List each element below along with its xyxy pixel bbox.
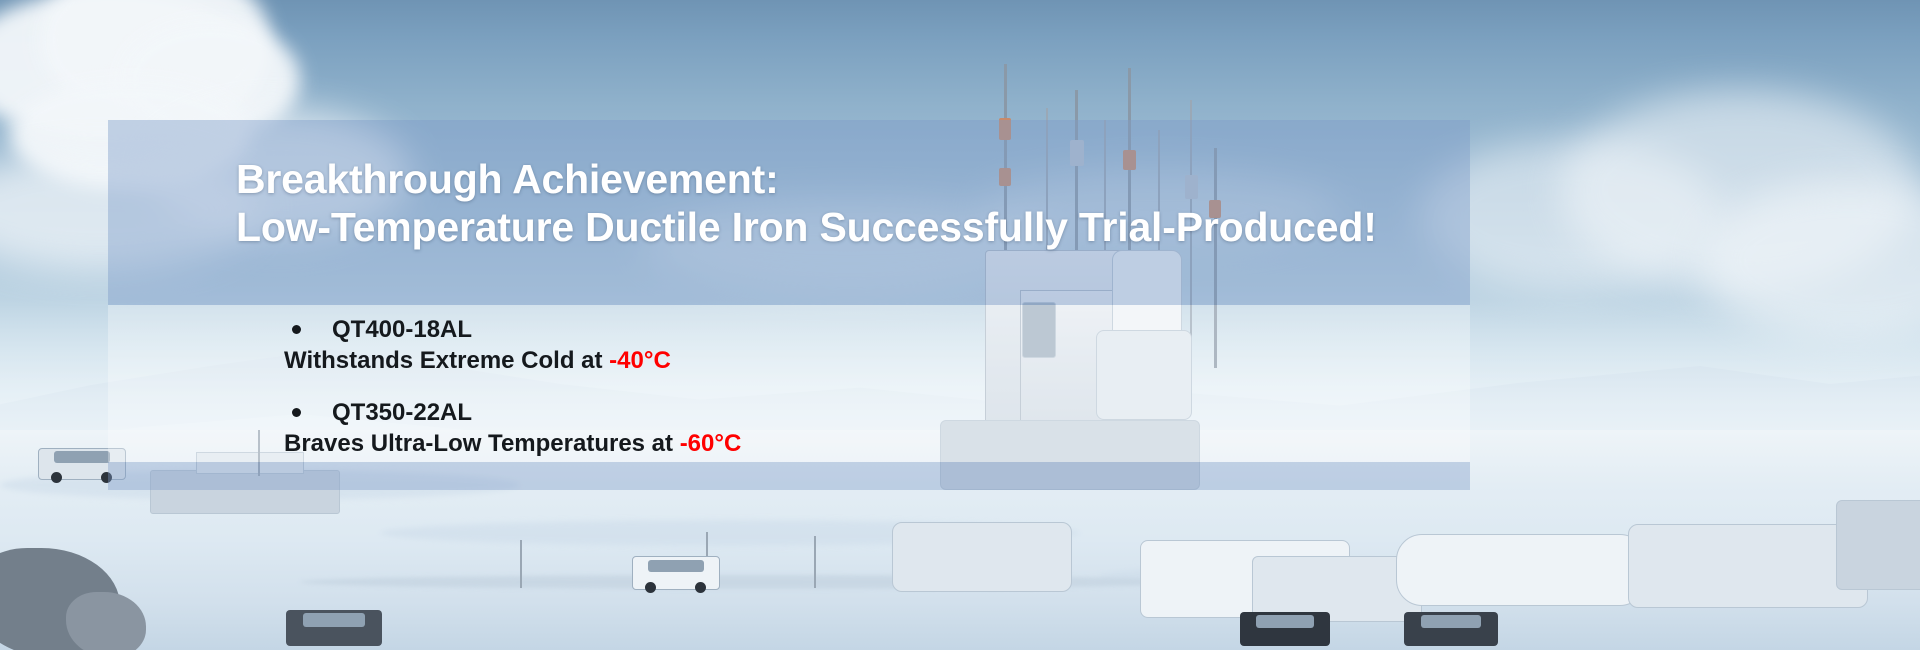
list-item-description: Withstands Extreme Cold at -40°C <box>284 346 1284 375</box>
facility-building <box>892 522 1072 592</box>
vehicle-window <box>303 613 364 627</box>
bullet-dot-icon <box>292 408 301 417</box>
description-text: Braves Ultra-Low Temperatures at <box>284 430 680 457</box>
list-item: QT350-22AL Braves Ultra-Low Temperatures… <box>284 398 1284 459</box>
description-text: Withstands Extreme Cold at <box>284 347 609 374</box>
vehicle-window <box>1256 615 1314 629</box>
facility-building <box>1628 524 1868 608</box>
utility-pole <box>814 536 816 588</box>
vehicle-window <box>54 451 109 463</box>
vehicle-window <box>648 560 703 573</box>
facility-building <box>1836 500 1920 590</box>
overlay-content: Breakthrough Achievement: Low-Temperatur… <box>108 120 1470 490</box>
bullet-dot-icon <box>292 325 301 334</box>
page-title: Breakthrough Achievement: Low-Temperatur… <box>236 155 1466 252</box>
vehicle <box>1404 612 1498 646</box>
material-grade-code: QT350-22AL <box>332 398 472 427</box>
hero-text-overlay: Breakthrough Achievement: Low-Temperatur… <box>108 120 1470 490</box>
list-item: QT400-18AL Withstands Extreme Cold at -4… <box>284 315 1284 376</box>
hero-banner-scene: Breakthrough Achievement: Low-Temperatur… <box>0 0 1920 650</box>
temperature-value: -60°C <box>680 430 742 457</box>
feature-list: QT400-18AL Withstands Extreme Cold at -4… <box>284 315 1284 458</box>
list-item-heading: QT350-22AL <box>284 398 1284 427</box>
list-item-heading: QT400-18AL <box>284 315 1284 344</box>
temperature-value: -40°C <box>609 347 671 374</box>
page-title-line-2: Low-Temperature Ductile Iron Successfull… <box>236 203 1466 251</box>
vehicle-wheel <box>695 582 706 593</box>
facility-building <box>1396 534 1646 606</box>
vehicle-window <box>1421 615 1481 629</box>
vehicle <box>286 610 382 646</box>
page-title-line-1: Breakthrough Achievement: <box>236 155 1466 203</box>
utility-pole <box>520 540 522 588</box>
vehicle <box>1240 612 1330 646</box>
vehicle <box>632 556 720 590</box>
material-grade-code: QT400-18AL <box>332 315 472 344</box>
vehicle-wheel <box>51 472 62 483</box>
vehicle-wheel <box>645 582 656 593</box>
list-item-description: Braves Ultra-Low Temperatures at -60°C <box>284 429 1284 458</box>
